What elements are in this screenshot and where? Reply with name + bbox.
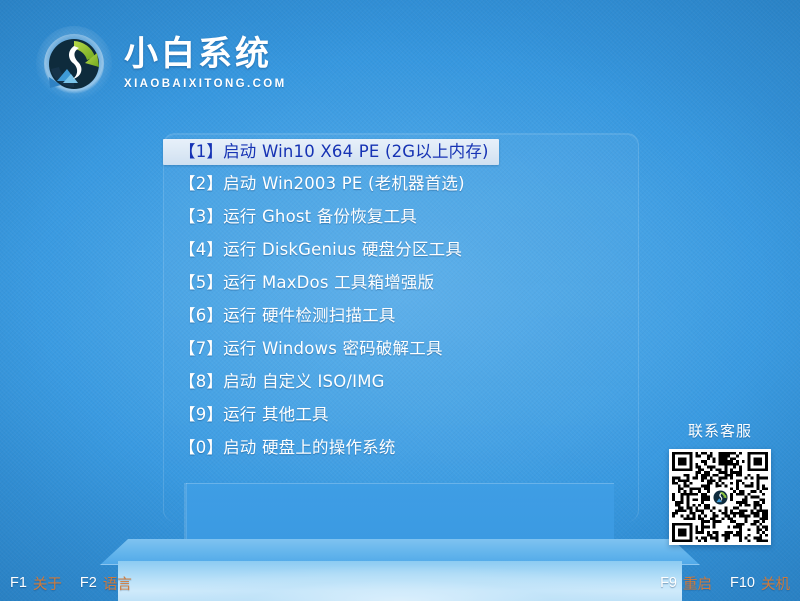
customer-support-block: 联系客服: [665, 420, 775, 545]
boot-menu-item-6[interactable]: 【6】运行 硬件检测扫描工具: [163, 304, 406, 328]
boot-menu-item-8[interactable]: 【8】启动 自定义 ISO/IMG: [163, 370, 395, 394]
boot-menu-item-7[interactable]: 【7】运行 Windows 密码破解工具: [163, 337, 453, 361]
function-key-label: 关于: [33, 573, 62, 594]
brand-name-en: XIAOBAIXITONG.COM: [124, 79, 287, 91]
function-key-name: F9: [660, 575, 677, 591]
boot-menu-item-5[interactable]: 【5】运行 MaxDos 工具箱增强版: [163, 271, 444, 295]
qr-code-icon[interactable]: [669, 449, 771, 545]
function-key-f2[interactable]: F2语言: [80, 573, 132, 594]
function-key-bar: F1关于F2语言 F9重启F10关机: [0, 565, 800, 601]
function-key-f1[interactable]: F1关于: [10, 573, 62, 594]
function-key-name: F1: [10, 575, 27, 591]
function-key-f9[interactable]: F9重启: [660, 573, 712, 594]
boot-menu-item-0[interactable]: 【0】启动 硬盘上的操作系统: [163, 436, 406, 460]
function-key-name: F10: [730, 575, 755, 591]
function-keys-right: F9重启F10关机: [660, 573, 790, 594]
function-key-label: 语言: [103, 573, 132, 594]
boot-menu-item-3[interactable]: 【3】运行 Ghost 备份恢复工具: [163, 205, 427, 229]
function-key-label: 关机: [761, 573, 790, 594]
function-key-name: F2: [80, 575, 97, 591]
function-key-f10[interactable]: F10关机: [730, 573, 790, 594]
boot-menu-item-2[interactable]: 【2】启动 Win2003 PE (老机器首选): [163, 172, 475, 196]
refresh-circle-logo-icon: [36, 26, 112, 102]
function-key-label: 重启: [683, 573, 712, 594]
boot-menu-item-1[interactable]: 【1】启动 Win10 X64 PE (2G以上内存): [163, 139, 499, 165]
boot-menu-item-9[interactable]: 【9】运行 其他工具: [163, 403, 339, 427]
brand-logo: 小白系统 XIAOBAIXITONG.COM: [36, 26, 287, 102]
brand-name-cn: 小白系统: [124, 37, 287, 71]
brand-logo-icon: [710, 487, 730, 507]
function-keys-left: F1关于F2语言: [10, 573, 132, 594]
support-title: 联系客服: [665, 420, 775, 441]
boot-menu-item-4[interactable]: 【4】运行 DiskGenius 硬盘分区工具: [163, 238, 472, 262]
boot-menu-list[interactable]: 【1】启动 Win10 X64 PE (2G以上内存)【2】启动 Win2003…: [163, 139, 637, 469]
brand-logo-text: 小白系统 XIAOBAIXITONG.COM: [124, 37, 287, 91]
